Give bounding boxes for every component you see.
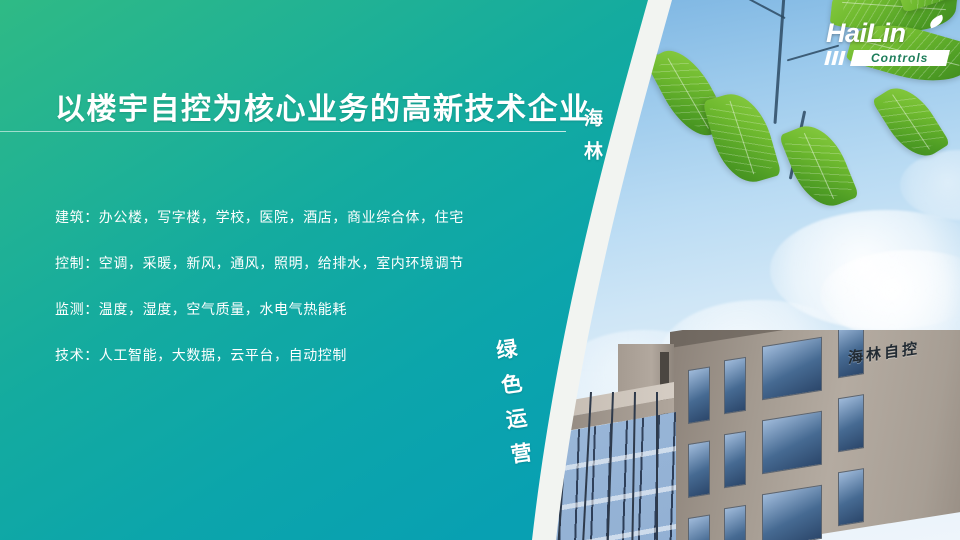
title-underline-rule bbox=[0, 131, 566, 132]
list-item: 控制：空调，采暖，新风，通风，照明，给排水，室内环境调节 bbox=[55, 253, 525, 273]
logo-subtext: Controls bbox=[871, 50, 928, 66]
list-item: 监测：温度，湿度，空气质量，水电气热能耗 bbox=[55, 299, 525, 319]
vertical-caption-company: 海林 bbox=[578, 108, 605, 174]
logo-wordmark: HaiLin bbox=[826, 20, 906, 47]
bullet-list: 建筑：办公楼，写字楼，学校，医院，酒店，商业综合体，住宅 控制：空调，采暖，新风… bbox=[55, 207, 525, 391]
logo-stripe bbox=[838, 51, 845, 65]
slide-root: 海林自控 以楼宇自控为核心业务的高新技术企业 建筑：办公楼，写字楼，学校，医院，… bbox=[0, 0, 960, 540]
list-item: 建筑：办公楼，写字楼，学校，医院，酒店，商业综合体，住宅 bbox=[55, 207, 525, 227]
page-title: 以楼宇自控为核心业务的高新技术企业 bbox=[55, 84, 591, 128]
logo-sub-bar: Controls bbox=[826, 50, 948, 66]
hailin-logo[interactable]: HaiLin Controls bbox=[826, 20, 948, 68]
logo-subtext-plate: Controls bbox=[850, 50, 950, 66]
list-item: 技术：人工智能，大数据，云平台，自动控制 bbox=[55, 345, 525, 365]
